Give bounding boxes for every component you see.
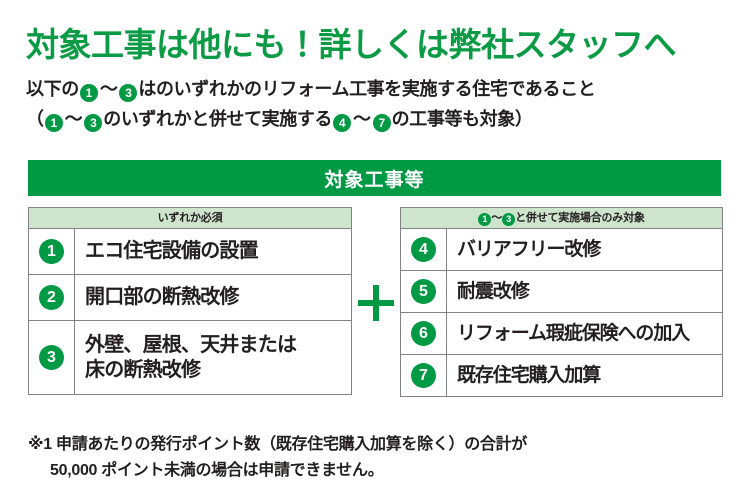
circled-number-1-header: 1 xyxy=(478,213,491,226)
circled-number-1: 1 xyxy=(39,239,64,264)
circled-number-7-inline: 7 xyxy=(373,114,391,132)
optional-works-table: 1〜3と併せて実施場合のみ対象 4 バリアフリー改修 5 耐震改修 6 リフォー… xyxy=(400,207,723,397)
plus-icon-vertical-bar xyxy=(373,285,379,321)
circled-number-1-inline: 1 xyxy=(80,84,98,102)
lead-line2-open-paren: （ xyxy=(26,109,44,129)
circled-number-6: 6 xyxy=(411,321,436,346)
plus-icon xyxy=(358,285,394,321)
lead-line2-text-mid: のいずれかと併せて実施する xyxy=(103,109,332,129)
circled-number-3-header: 3 xyxy=(502,213,515,226)
lead-line1-text-a: 以下の xyxy=(26,79,79,99)
section-banner-target-works: 対象工事等 xyxy=(28,160,721,196)
footnote-line-2: 50,000 ポイント未満の場合は申請できません。 xyxy=(28,458,527,484)
table-row: 6 リフォーム瑕疵保険への加入 xyxy=(401,313,722,355)
row-label: バリアフリー改修 xyxy=(447,229,722,270)
banner-label: 対象工事等 xyxy=(324,165,424,192)
lead-line2-text-end: の工事等も対象） xyxy=(392,109,533,129)
row-number-cell: 6 xyxy=(401,313,447,354)
table-row: 2 開口部の断熱改修 xyxy=(29,275,351,321)
lead-line-2: （1〜3のいずれかと併せて実施する4〜7の工事等も対象） xyxy=(26,104,595,134)
row-number-cell: 5 xyxy=(401,271,447,312)
row-label: 開口部の断熱改修 xyxy=(75,275,351,320)
circled-number-3-inline: 3 xyxy=(119,84,137,102)
row-label: 耐震改修 xyxy=(447,271,722,312)
optional-works-table-header: 1〜3と併せて実施場合のみ対象 xyxy=(401,208,722,229)
tilde-separator-2: 〜 xyxy=(65,109,83,129)
lead-line-1: 以下の1〜3はのいずれかのリフォーム工事を実施する住宅であること xyxy=(26,74,595,104)
circled-number-5: 5 xyxy=(411,279,436,304)
tilde-separator-header: 〜 xyxy=(491,212,502,224)
row-label: 既存住宅購入加算 xyxy=(447,355,722,396)
row-label: リフォーム瑕疵保険への加入 xyxy=(447,313,722,354)
row-number-cell: 7 xyxy=(401,355,447,396)
row-number-cell: 2 xyxy=(29,275,75,320)
table-row: 3 外壁、屋根、天井または 床の断熱改修 xyxy=(29,321,351,394)
table-row: 4 バリアフリー改修 xyxy=(401,229,722,271)
circled-number-4-inline: 4 xyxy=(333,114,351,132)
table-row: 1 エコ住宅設備の設置 xyxy=(29,229,351,275)
footnote-line-1: ※1 申請あたりの発行ポイント数（既存住宅購入加算を除く）の合計が xyxy=(28,436,527,453)
circled-number-7: 7 xyxy=(411,363,436,388)
circled-number-2: 2 xyxy=(39,285,64,310)
row-number-cell: 1 xyxy=(29,229,75,274)
row-label: エコ住宅設備の設置 xyxy=(75,229,351,274)
required-works-table: いずれか必須 1 エコ住宅設備の設置 2 開口部の断熱改修 3 外壁、屋根、天井… xyxy=(28,207,352,395)
lead-line1-text-b: はのいずれかのリフォーム工事を実施する住宅であること xyxy=(138,79,595,99)
tilde-separator: 〜 xyxy=(100,79,118,99)
circled-number-4: 4 xyxy=(411,237,436,262)
lead-paragraph: 以下の1〜3はのいずれかのリフォーム工事を実施する住宅であること （1〜3のいず… xyxy=(26,74,595,134)
page-title: 対象工事は他にも！詳しくは弊社スタッフへ xyxy=(26,18,676,66)
circled-number-3-inline-2: 3 xyxy=(84,114,102,132)
required-works-table-header: いずれか必須 xyxy=(29,208,351,229)
row-number-cell: 4 xyxy=(401,229,447,270)
table-row: 5 耐震改修 xyxy=(401,271,722,313)
optional-works-header-text: と併せて実施場合のみ対象 xyxy=(515,212,645,224)
table-row: 7 既存住宅購入加算 xyxy=(401,355,722,396)
circled-number-1-inline-2: 1 xyxy=(45,114,63,132)
circled-number-3: 3 xyxy=(39,345,64,370)
row-label: 外壁、屋根、天井または 床の断熱改修 xyxy=(75,321,351,394)
row-number-cell: 3 xyxy=(29,321,75,394)
footnote: ※1 申請あたりの発行ポイント数（既存住宅購入加算を除く）の合計が 50,000… xyxy=(28,432,527,484)
tilde-separator-3: 〜 xyxy=(353,109,371,129)
